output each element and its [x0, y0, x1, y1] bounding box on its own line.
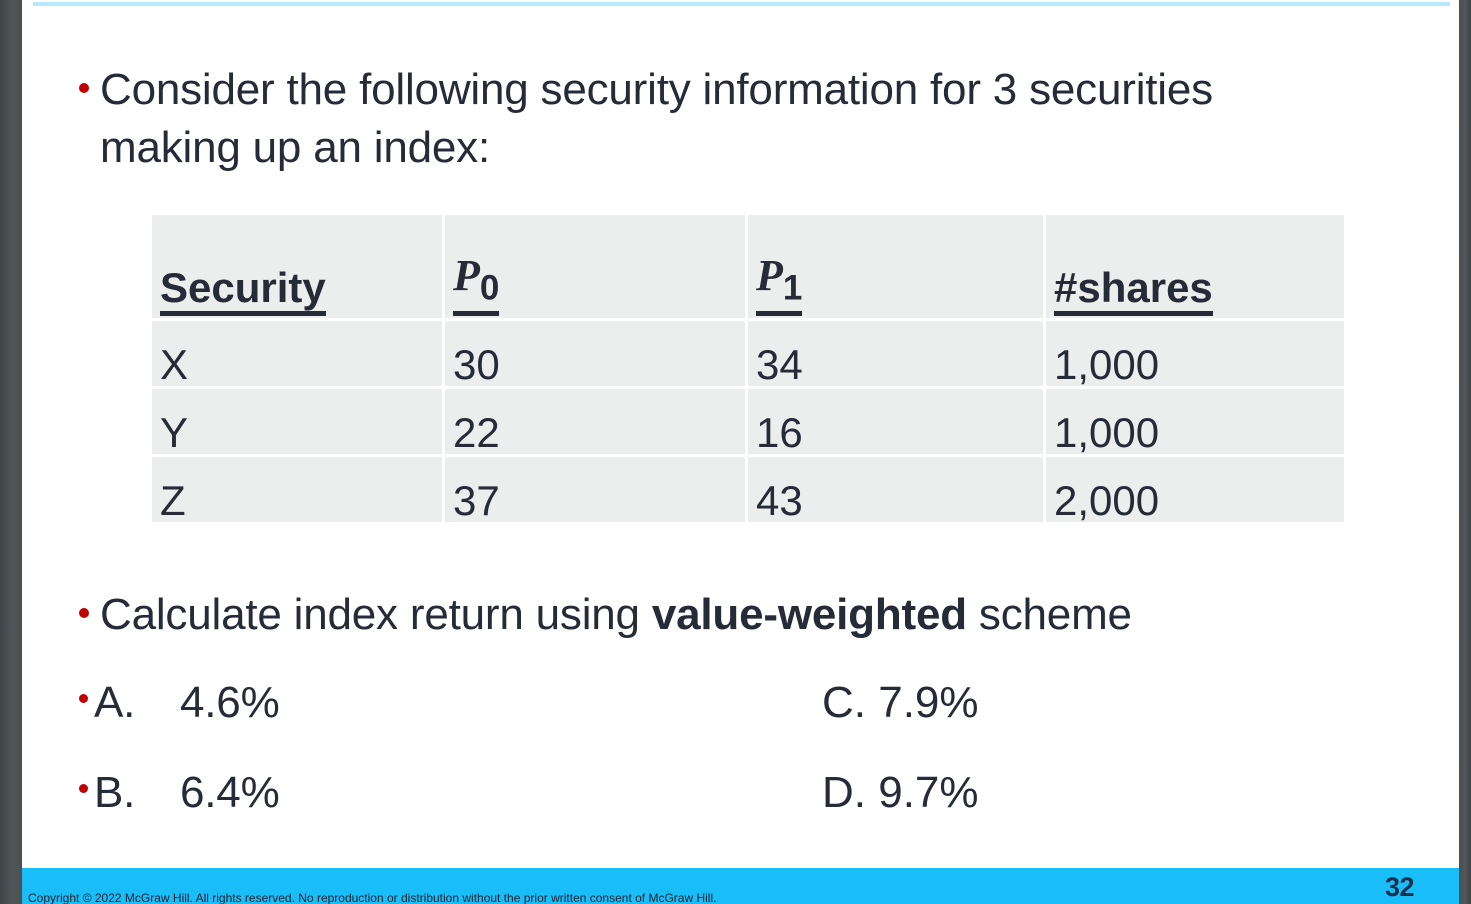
footer-copyright: Copyright © 2022 McGraw Hill. All rights…	[28, 891, 1078, 904]
cell-shares: 2,000	[1045, 456, 1345, 523]
table-header-p1: P1	[747, 215, 1045, 320]
cell-p1: 43	[747, 456, 1045, 523]
cell-p0: 37	[444, 456, 747, 523]
cell-security: Y	[152, 388, 444, 456]
slide: Consider the following security informat…	[0, 0, 1471, 904]
table-row: Z 37 43 2,000	[152, 456, 1344, 523]
cell-p1: 16	[747, 388, 1045, 456]
option-a-value: 4.6%	[180, 678, 280, 727]
bullet-intro: Consider the following security informat…	[79, 61, 1349, 177]
bullet-dot-icon	[79, 694, 88, 703]
cell-p0: 30	[444, 320, 747, 388]
option-b-value: 6.4%	[180, 768, 280, 817]
table-header-shares: #shares	[1045, 215, 1345, 320]
bullet-dot-icon	[79, 83, 89, 93]
option-c[interactable]: C. 7.9%	[822, 674, 979, 732]
page-number: 32	[1385, 872, 1445, 903]
bullet-intro-text: Consider the following security informat…	[100, 61, 1349, 177]
table-header-p0: P0	[444, 215, 747, 320]
cell-p1: 34	[747, 320, 1045, 388]
right-edge-bar	[1459, 0, 1471, 904]
header-sub-p0: 0	[480, 268, 499, 307]
cell-shares: 1,000	[1045, 388, 1345, 456]
cell-shares: 1,000	[1045, 320, 1345, 388]
table-header-security: Security	[152, 215, 444, 320]
cell-p0: 22	[444, 388, 747, 456]
bullet-dot-icon	[79, 608, 89, 618]
header-label-shares: #shares	[1054, 266, 1213, 316]
option-a-letter: A.	[94, 674, 180, 732]
option-d[interactable]: D. 9.7%	[822, 764, 979, 822]
question-prefix: Calculate index return using	[100, 590, 652, 639]
option-b-text: B.6.4%	[94, 764, 280, 822]
bullet-question: Calculate index return using value-weigh…	[79, 586, 1449, 644]
cell-security: Z	[152, 456, 444, 523]
header-label-p0: P	[453, 251, 480, 300]
header-label-p1: P	[756, 251, 783, 300]
security-table: Security P0 P1 #shares X 30 34 1,000 Y	[152, 215, 1344, 522]
option-b-letter: B.	[94, 764, 180, 822]
question-suffix: scheme	[967, 590, 1132, 639]
bullet-dot-icon	[79, 784, 88, 793]
table-row: Y 22 16 1,000	[152, 388, 1344, 456]
bullet-question-text: Calculate index return using value-weigh…	[100, 586, 1132, 644]
option-b[interactable]: B.6.4%	[79, 764, 280, 822]
table-row: X 30 34 1,000	[152, 320, 1344, 388]
option-a[interactable]: A.4.6%	[79, 674, 280, 732]
slide-content: Consider the following security informat…	[22, 6, 1459, 868]
left-edge-bar	[0, 0, 22, 904]
header-label-security: Security	[160, 266, 326, 316]
header-sub-p1: 1	[783, 268, 802, 307]
cell-security: X	[152, 320, 444, 388]
option-a-text: A.4.6%	[94, 674, 280, 732]
question-emphasis: value-weighted	[652, 590, 967, 639]
table-header-row: Security P0 P1 #shares	[152, 215, 1344, 320]
